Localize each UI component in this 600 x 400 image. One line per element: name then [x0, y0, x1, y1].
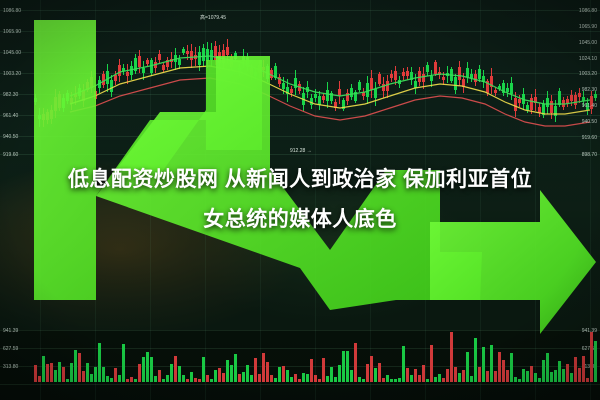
headline-line-2: 女总统的媒体人底色 — [0, 200, 600, 240]
screenshot-root: 1086.801065.901045.001003.20982.30961.40… — [0, 0, 600, 400]
headline-line-1: 低息配资炒股网 从新闻人到政治家 保加利亚首位 — [68, 168, 532, 191]
headline: 低息配资炒股网 从新闻人到政治家 保加利亚首位 女总统的媒体人底色 — [0, 160, 600, 240]
